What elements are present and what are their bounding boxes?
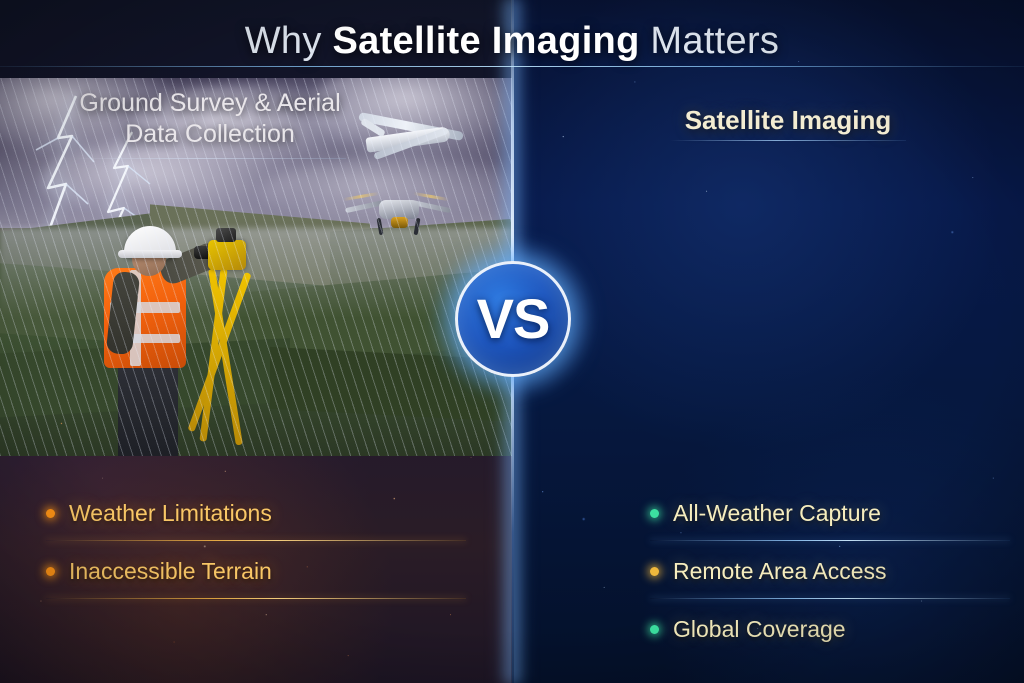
title-prefix: Why bbox=[245, 20, 333, 62]
bullet-dot-icon bbox=[650, 567, 659, 576]
list-item: Global Coverage bbox=[650, 600, 1010, 658]
bullet-dot-icon bbox=[46, 567, 55, 576]
list-separator bbox=[650, 540, 1010, 541]
vs-label: VS bbox=[477, 291, 550, 347]
bullet-label: All-Weather Capture bbox=[673, 500, 881, 527]
infographic-canvas: Optical SAR bbox=[0, 0, 1024, 683]
bullet-label: Global Coverage bbox=[673, 616, 846, 643]
left-heading-underline bbox=[74, 158, 346, 159]
list-item: All-Weather Capture bbox=[650, 484, 1010, 542]
list-separator bbox=[46, 540, 466, 541]
bullet-dot-icon bbox=[650, 509, 659, 518]
vs-circle: VS bbox=[455, 261, 571, 377]
right-heading-underline bbox=[670, 140, 906, 141]
title-underline bbox=[0, 66, 1024, 67]
title-emphasis: Satellite Imaging bbox=[333, 20, 640, 62]
vs-badge: VS bbox=[455, 261, 571, 377]
bullet-dot-icon bbox=[650, 625, 659, 634]
bullet-label: Remote Area Access bbox=[673, 558, 887, 585]
right-bullet-list: All-Weather Capture Remote Area Access G… bbox=[650, 484, 1010, 658]
title-suffix: Matters bbox=[640, 20, 780, 62]
list-item: Weather Limitations bbox=[46, 484, 466, 542]
list-separator bbox=[650, 598, 1010, 599]
right-panel-heading: Satellite Imaging bbox=[628, 105, 948, 137]
list-separator bbox=[46, 598, 466, 599]
page-title: Why Satellite Imaging Matters bbox=[0, 20, 1024, 63]
list-item: Remote Area Access bbox=[650, 542, 1010, 600]
bullet-dot-icon bbox=[46, 509, 55, 518]
left-panel-heading: Ground Survey & Aerial Data Collection bbox=[40, 88, 380, 149]
bullet-label: Inaccessible Terrain bbox=[69, 558, 272, 585]
list-item: Inaccessible Terrain bbox=[46, 542, 466, 600]
bullet-label: Weather Limitations bbox=[69, 500, 272, 527]
left-bullet-list: Weather Limitations Inaccessible Terrain bbox=[46, 484, 466, 600]
